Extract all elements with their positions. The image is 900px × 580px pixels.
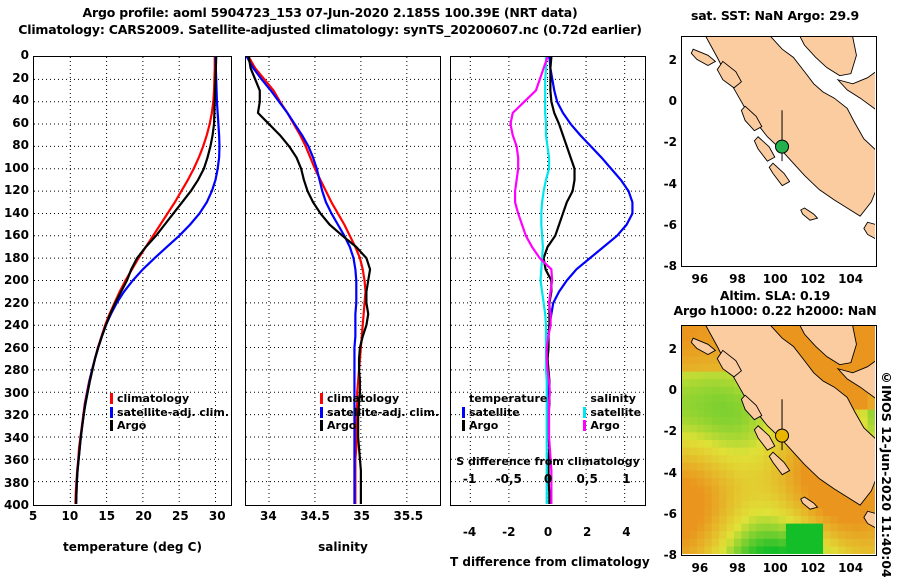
map-x-tick: 100 xyxy=(755,561,795,575)
legend-label-satellite-adj-clim: satellite-adj. clim. xyxy=(327,406,439,420)
legend-label-sal-satellite: satellite xyxy=(590,406,641,420)
tick-label: 15 xyxy=(87,509,127,523)
legend-label-climatology: climatology xyxy=(117,392,189,406)
salinity-panel xyxy=(245,56,441,506)
legend-group-title-temperature: temperature xyxy=(462,392,547,406)
map-y-tick: -8 xyxy=(653,259,677,273)
tick-label: 0,5 xyxy=(567,472,607,486)
difference-plot-svg xyxy=(451,57,644,504)
legend-swatch-satellite-adj-clim xyxy=(110,407,113,418)
sla-map-title-line1: Altim. SLA: 0.19 xyxy=(660,288,890,303)
legend-swatch-temp-argo xyxy=(462,420,465,431)
map-y-tick: -6 xyxy=(653,507,677,521)
tick-label: 1 xyxy=(606,472,646,486)
tick-label: -2 xyxy=(489,525,529,539)
depth-tick-label: 320 xyxy=(0,408,29,422)
tick-label: 0 xyxy=(528,472,568,486)
legend-label-argo: Argo xyxy=(117,419,146,433)
map-x-tick: 96 xyxy=(680,272,720,286)
legend-label-climatology: climatology xyxy=(327,392,399,406)
legend-item-satellite-adj-clim-sal: satellite-adj. clim. xyxy=(320,406,439,420)
map-x-tick: 98 xyxy=(718,561,758,575)
depth-tick-label: 60 xyxy=(0,116,29,130)
temperature-panel xyxy=(33,56,232,506)
map-x-tick: 98 xyxy=(718,272,758,286)
header-line1: Argo profile: aoml 5904723_153 07-Jun-20… xyxy=(0,5,660,20)
depth-tick-label: 120 xyxy=(0,183,29,197)
tick-label: 34.5 xyxy=(295,509,335,523)
legend-item-argo: Argo xyxy=(110,419,229,433)
tick-label: 2 xyxy=(567,525,607,539)
salinity-legend: climatology satellite-adj. clim. Argo xyxy=(320,392,439,433)
depth-tick-label: 80 xyxy=(0,138,29,152)
map-y-tick: -2 xyxy=(653,424,677,438)
sst-map-svg xyxy=(682,37,875,265)
temperature-plot-svg xyxy=(34,57,230,504)
sla-map-panel xyxy=(681,325,877,556)
tick-label: 34 xyxy=(248,509,288,523)
tick-label: 4 xyxy=(606,525,646,539)
tick-label: -1 xyxy=(450,472,490,486)
legend-swatch-sal-argo xyxy=(583,420,586,431)
legend-item-sal-satellite: satellite xyxy=(583,406,641,420)
legend-swatch-argo xyxy=(110,420,113,431)
map-y-tick: 0 xyxy=(653,383,677,397)
depth-tick-label: 260 xyxy=(0,341,29,355)
map-y-tick: 2 xyxy=(653,53,677,67)
map-y-tick: -4 xyxy=(653,177,677,191)
legend-swatch-satellite-adj-clim xyxy=(320,407,323,418)
depth-tick-label: 220 xyxy=(0,296,29,310)
tick-label: 30 xyxy=(197,509,237,523)
depth-tick-label: 360 xyxy=(0,453,29,467)
copyright-text: ©IMOS 12-Jun-2020 11:40:04 xyxy=(879,370,894,578)
legend-item-argo-sal: Argo xyxy=(320,419,439,433)
legend-title-temperature: temperature xyxy=(469,392,547,406)
sla-map-svg xyxy=(682,326,875,554)
depth-tick-label: 400 xyxy=(0,498,29,512)
map-y-tick: -4 xyxy=(653,466,677,480)
legend-item-temp-satellite: satellite xyxy=(462,406,547,420)
map-x-tick: 100 xyxy=(755,272,795,286)
legend-group-title-salinity: salinity xyxy=(583,392,641,406)
salinity-plot-svg xyxy=(246,57,439,504)
map-y-tick: 2 xyxy=(653,342,677,356)
legend-item-satellite-adj-clim: satellite-adj. clim. xyxy=(110,406,229,420)
tick-label: 10 xyxy=(50,509,90,523)
legend-item-sal-argo: Argo xyxy=(583,419,641,433)
sst-map-panel xyxy=(681,36,877,267)
legend-label-temp-argo: Argo xyxy=(469,419,498,433)
legend-item-temp-argo: Argo xyxy=(462,419,547,433)
depth-tick-label: 240 xyxy=(0,318,29,332)
depth-tick-label: 160 xyxy=(0,228,29,242)
legend-swatch-climatology xyxy=(110,393,113,404)
legend-label-temp-satellite: satellite xyxy=(469,406,520,420)
tick-label: -0,5 xyxy=(489,472,529,486)
temperature-axis-label: temperature (deg C) xyxy=(33,540,232,554)
depth-tick-label: 200 xyxy=(0,273,29,287)
tick-label: 25 xyxy=(160,509,200,523)
legend-title-salinity: salinity xyxy=(590,392,636,406)
map-x-tick: 104 xyxy=(831,272,871,286)
legend-label-satellite-adj-clim: satellite-adj. clim. xyxy=(117,406,229,420)
legend-group-temperature: temperature satellite Argo xyxy=(462,392,547,433)
depth-tick-label: 140 xyxy=(0,206,29,220)
depth-tick-label: 280 xyxy=(0,363,29,377)
tick-label: 35.5 xyxy=(388,509,428,523)
depth-tick-label: 20 xyxy=(0,71,29,85)
sst-map-title: sat. SST: NaN Argo: 29.9 xyxy=(660,8,890,23)
sla-map-title-line2: Argo h1000: 0.22 h2000: NaN xyxy=(660,303,890,318)
depth-tick-label: 300 xyxy=(0,386,29,400)
depth-tick-label: 340 xyxy=(0,431,29,445)
map-y-tick: -2 xyxy=(653,135,677,149)
legend-swatch-climatology xyxy=(320,393,323,404)
map-y-tick: -6 xyxy=(653,218,677,232)
map-x-tick: 104 xyxy=(831,561,871,575)
difference-legend: temperature satellite Argo salinity sate… xyxy=(462,392,641,433)
t-difference-axis-label: T difference from climatology xyxy=(450,555,646,569)
depth-tick-label: 180 xyxy=(0,251,29,265)
s-difference-axis-label: S difference from climatology xyxy=(450,455,646,468)
depth-tick-label: 40 xyxy=(0,93,29,107)
tick-label: -4 xyxy=(450,525,490,539)
tick-label: 35 xyxy=(342,509,382,523)
tick-label: 20 xyxy=(124,509,164,523)
map-y-tick: 0 xyxy=(653,94,677,108)
legend-swatch-sal-satellite xyxy=(583,407,586,418)
depth-tick-label: 0 xyxy=(0,48,29,62)
legend-group-salinity: salinity satellite Argo xyxy=(583,392,641,433)
legend-label-sal-argo: Argo xyxy=(590,419,619,433)
depth-tick-label: 380 xyxy=(0,476,29,490)
legend-label-argo: Argo xyxy=(327,419,356,433)
map-y-tick: -8 xyxy=(653,548,677,562)
temperature-legend: climatology satellite-adj. clim. Argo xyxy=(110,392,229,433)
map-x-tick: 96 xyxy=(680,561,720,575)
difference-panel xyxy=(450,56,646,506)
salinity-axis-label: salinity xyxy=(245,540,441,554)
legend-item-climatology-sal: climatology xyxy=(320,392,439,406)
header-line2: Climatology: CARS2009. Satellite-adjuste… xyxy=(0,22,660,37)
legend-item-climatology: climatology xyxy=(110,392,229,406)
map-x-tick: 102 xyxy=(793,561,833,575)
map-x-tick: 102 xyxy=(793,272,833,286)
tick-label: 0 xyxy=(528,525,568,539)
legend-swatch-argo xyxy=(320,420,323,431)
legend-swatch-temp-satellite xyxy=(462,407,465,418)
depth-tick-label: 100 xyxy=(0,161,29,175)
